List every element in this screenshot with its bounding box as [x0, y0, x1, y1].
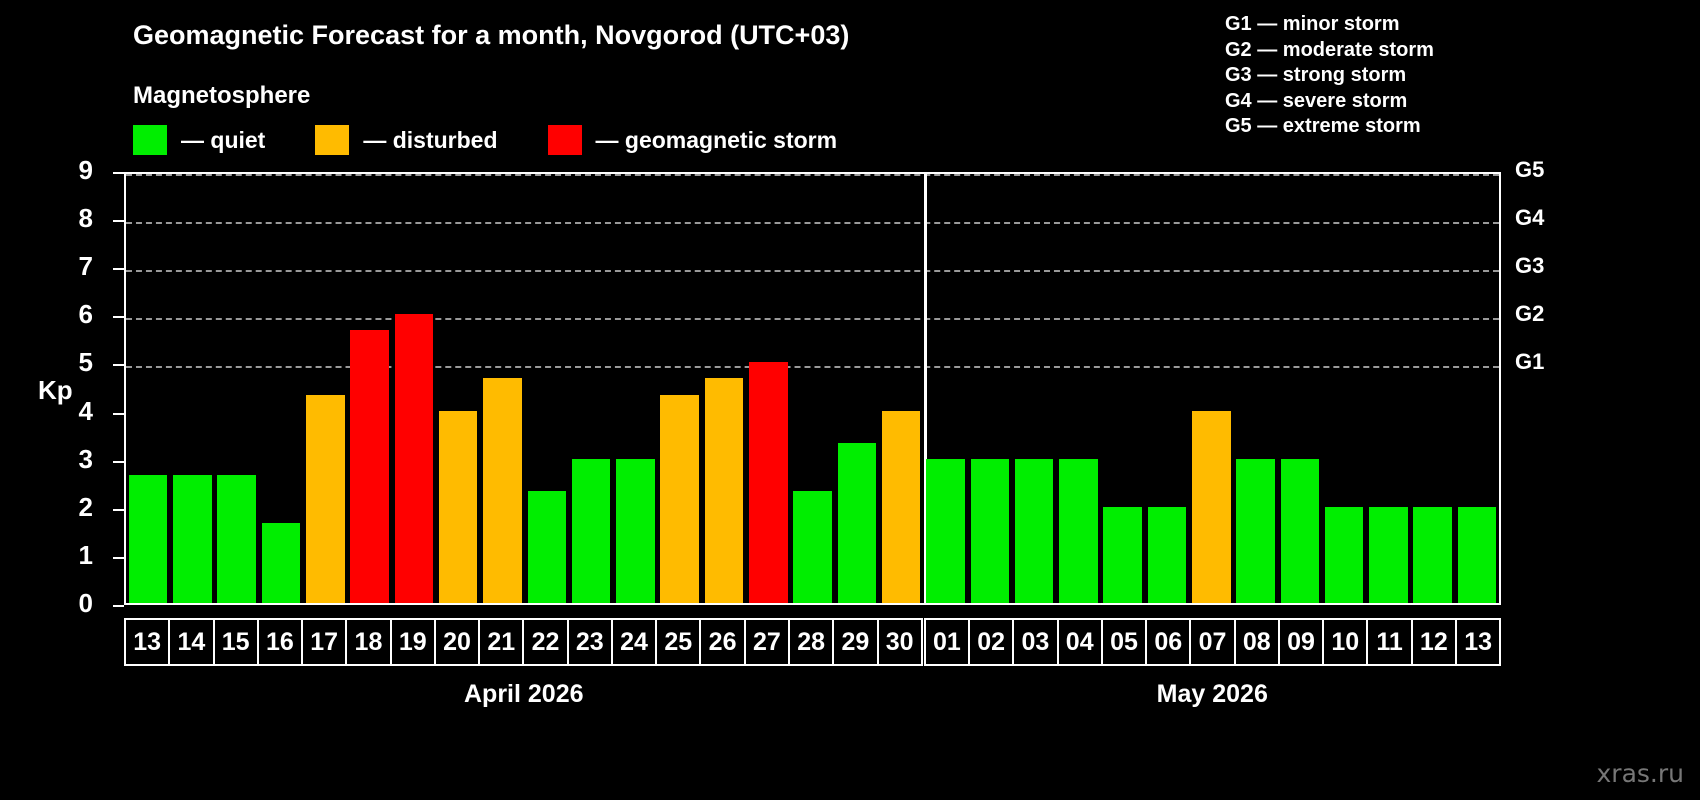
bar-cell[interactable]	[1145, 174, 1189, 603]
g-scale-legend: G1 — minor stormG2 — moderate stormG3 — …	[1225, 12, 1434, 140]
date-cell-april-22[interactable]: 22	[522, 618, 568, 666]
date-cell-april-20[interactable]: 20	[434, 618, 480, 666]
date-axis: 1314151617181920212223242526272829300102…	[124, 618, 1501, 666]
bar-april-15[interactable]	[217, 475, 256, 603]
bar-april-23[interactable]	[572, 459, 611, 603]
bar-april-20[interactable]	[439, 411, 478, 603]
y-tick-mark-8	[113, 220, 124, 222]
date-cell-april-25[interactable]: 25	[655, 618, 701, 666]
g-scale-line-3: G3 — strong storm	[1225, 63, 1434, 89]
date-cell-may-04[interactable]: 04	[1057, 618, 1103, 666]
g-scale-line-5: G5 — extreme storm	[1225, 114, 1434, 140]
date-cell-april-13[interactable]: 13	[124, 618, 170, 666]
g-axis-label-G4: G4	[1515, 205, 1544, 231]
bar-cell[interactable]	[436, 174, 480, 603]
bar-cell[interactable]	[1012, 174, 1056, 603]
bar-cell[interactable]	[126, 174, 170, 603]
bar-april-13[interactable]	[129, 475, 168, 603]
y-tick-mark-3	[113, 461, 124, 463]
date-cell-may-06[interactable]: 06	[1145, 618, 1191, 666]
y-tick-mark-4	[113, 413, 124, 415]
bar-april-21[interactable]	[483, 378, 522, 603]
bar-cell[interactable]	[1056, 174, 1100, 603]
bar-april-14[interactable]	[173, 475, 212, 603]
bar-cell[interactable]	[1233, 174, 1277, 603]
bar-may-03[interactable]	[1015, 459, 1054, 603]
date-cell-may-10[interactable]: 10	[1322, 618, 1368, 666]
date-cell-april-16[interactable]: 16	[257, 618, 303, 666]
bar-may-06[interactable]	[1148, 507, 1187, 603]
bar-may-12[interactable]	[1413, 507, 1452, 603]
legend-item-storm: — geomagnetic storm	[548, 125, 838, 155]
y-tick-mark-6	[113, 316, 124, 318]
y-tick-mark-9	[113, 172, 124, 174]
legend-label-disturbed: — disturbed	[363, 127, 497, 154]
bar-april-30[interactable]	[882, 411, 921, 603]
magnetosphere-legend: — quiet— disturbed— geomagnetic storm	[133, 125, 837, 155]
date-cell-april-29[interactable]: 29	[832, 618, 878, 666]
bar-may-05[interactable]	[1103, 507, 1142, 603]
bar-cell[interactable]	[746, 174, 790, 603]
bar-cell[interactable]	[1189, 174, 1233, 603]
date-cell-may-05[interactable]: 05	[1101, 618, 1147, 666]
bar-april-16[interactable]	[262, 523, 301, 603]
bar-cell[interactable]	[658, 174, 702, 603]
legend-swatch-quiet	[133, 125, 167, 155]
bar-cell[interactable]	[215, 174, 259, 603]
bar-may-01[interactable]	[926, 459, 965, 603]
month-label-april: April 2026	[374, 680, 674, 709]
date-cell-may-11[interactable]: 11	[1366, 618, 1412, 666]
bar-april-25[interactable]	[660, 395, 699, 603]
date-cell-may-02[interactable]: 02	[968, 618, 1014, 666]
date-cell-april-26[interactable]: 26	[699, 618, 745, 666]
bar-may-11[interactable]	[1369, 507, 1408, 603]
legend-label-storm: — geomagnetic storm	[596, 127, 838, 154]
bar-april-26[interactable]	[705, 378, 744, 603]
g-scale-line-2: G2 — moderate storm	[1225, 38, 1434, 64]
date-cell-april-19[interactable]: 19	[390, 618, 436, 666]
g-axis-label-G1: G1	[1515, 349, 1544, 375]
g-axis-label-G3: G3	[1515, 253, 1544, 279]
date-cell-april-21[interactable]: 21	[478, 618, 524, 666]
watermark: xras.ru	[1597, 759, 1685, 788]
bar-may-04[interactable]	[1059, 459, 1098, 603]
date-cell-april-27[interactable]: 27	[744, 618, 790, 666]
bar-may-08[interactable]	[1236, 459, 1275, 603]
y-tick-mark-2	[113, 509, 124, 511]
bar-cell[interactable]	[1411, 174, 1455, 603]
legend-item-disturbed: — disturbed	[315, 125, 497, 155]
y-tick-mark-0	[113, 605, 124, 607]
bar-april-22[interactable]	[528, 491, 567, 603]
bar-cell[interactable]	[923, 174, 967, 603]
y-tick-label-6: 6	[53, 299, 93, 330]
bar-may-09[interactable]	[1281, 459, 1320, 603]
y-tick-label-5: 5	[53, 347, 93, 378]
date-cell-april-17[interactable]: 17	[301, 618, 347, 666]
g-axis-label-G2: G2	[1515, 301, 1544, 327]
date-cell-april-24[interactable]: 24	[611, 618, 657, 666]
y-tick-mark-1	[113, 557, 124, 559]
date-cell-may-03[interactable]: 03	[1012, 618, 1058, 666]
magnetosphere-label: Magnetosphere	[133, 82, 310, 110]
bar-april-27[interactable]	[749, 362, 788, 603]
legend-swatch-storm	[548, 125, 582, 155]
bar-cell[interactable]	[392, 174, 436, 603]
bar-april-17[interactable]	[306, 395, 345, 603]
bar-cell[interactable]	[1278, 174, 1322, 603]
date-cell-may-12[interactable]: 12	[1411, 618, 1457, 666]
bar-april-29[interactable]	[838, 443, 877, 603]
legend-item-quiet: — quiet	[133, 125, 265, 155]
bar-series	[126, 174, 1499, 603]
y-tick-label-7: 7	[53, 251, 93, 282]
date-cell-may-07[interactable]: 07	[1189, 618, 1235, 666]
bar-cell[interactable]	[1455, 174, 1499, 603]
bar-cell[interactable]	[259, 174, 303, 603]
bar-cell[interactable]	[569, 174, 613, 603]
bar-cell[interactable]	[303, 174, 347, 603]
date-cell-may-01[interactable]: 01	[924, 618, 970, 666]
date-cell-april-23[interactable]: 23	[567, 618, 613, 666]
bar-cell[interactable]	[1366, 174, 1410, 603]
bar-cell[interactable]	[480, 174, 524, 603]
date-cell-april-14[interactable]: 14	[168, 618, 214, 666]
bar-cell[interactable]	[968, 174, 1012, 603]
date-cell-may-13[interactable]: 13	[1455, 618, 1501, 666]
y-tick-mark-7	[113, 268, 124, 270]
y-tick-label-0: 0	[53, 588, 93, 619]
bar-april-18[interactable]	[350, 330, 389, 603]
bar-cell[interactable]	[525, 174, 569, 603]
bar-cell[interactable]	[613, 174, 657, 603]
bar-april-19[interactable]	[395, 314, 434, 603]
bar-cell[interactable]	[1322, 174, 1366, 603]
bar-cell[interactable]	[170, 174, 214, 603]
y-tick-mark-5	[113, 364, 124, 366]
bar-may-10[interactable]	[1325, 507, 1364, 603]
month-label-may: May 2026	[1062, 680, 1362, 709]
date-cell-april-30[interactable]: 30	[877, 618, 923, 666]
bar-april-24[interactable]	[616, 459, 655, 603]
chart-plot-area	[124, 172, 1501, 605]
y-tick-label-3: 3	[53, 444, 93, 475]
bar-may-07[interactable]	[1192, 411, 1231, 603]
bar-cell[interactable]	[835, 174, 879, 603]
legend-swatch-disturbed	[315, 125, 349, 155]
bar-cell[interactable]	[879, 174, 923, 603]
page-title: Geomagnetic Forecast for a month, Novgor…	[133, 20, 849, 51]
bar-cell[interactable]	[347, 174, 391, 603]
date-cell-may-08[interactable]: 08	[1234, 618, 1280, 666]
y-tick-label-1: 1	[53, 540, 93, 571]
y-tick-label-8: 8	[53, 203, 93, 234]
date-cell-april-15[interactable]: 15	[213, 618, 259, 666]
y-tick-label-2: 2	[53, 492, 93, 523]
date-cell-april-28[interactable]: 28	[788, 618, 834, 666]
g-scale-line-1: G1 — minor storm	[1225, 12, 1434, 38]
bar-cell[interactable]	[790, 174, 834, 603]
y-tick-label-4: 4	[53, 396, 93, 427]
bar-april-28[interactable]	[793, 491, 832, 603]
bar-may-02[interactable]	[971, 459, 1010, 603]
date-cell-april-18[interactable]: 18	[345, 618, 391, 666]
legend-label-quiet: — quiet	[181, 127, 265, 154]
date-cell-may-09[interactable]: 09	[1278, 618, 1324, 666]
g-axis-label-G5: G5	[1515, 157, 1544, 183]
bar-may-13[interactable]	[1458, 507, 1497, 603]
bar-cell[interactable]	[702, 174, 746, 603]
y-tick-label-9: 9	[53, 155, 93, 186]
g-scale-line-4: G4 — severe storm	[1225, 89, 1434, 115]
bar-cell[interactable]	[1101, 174, 1145, 603]
